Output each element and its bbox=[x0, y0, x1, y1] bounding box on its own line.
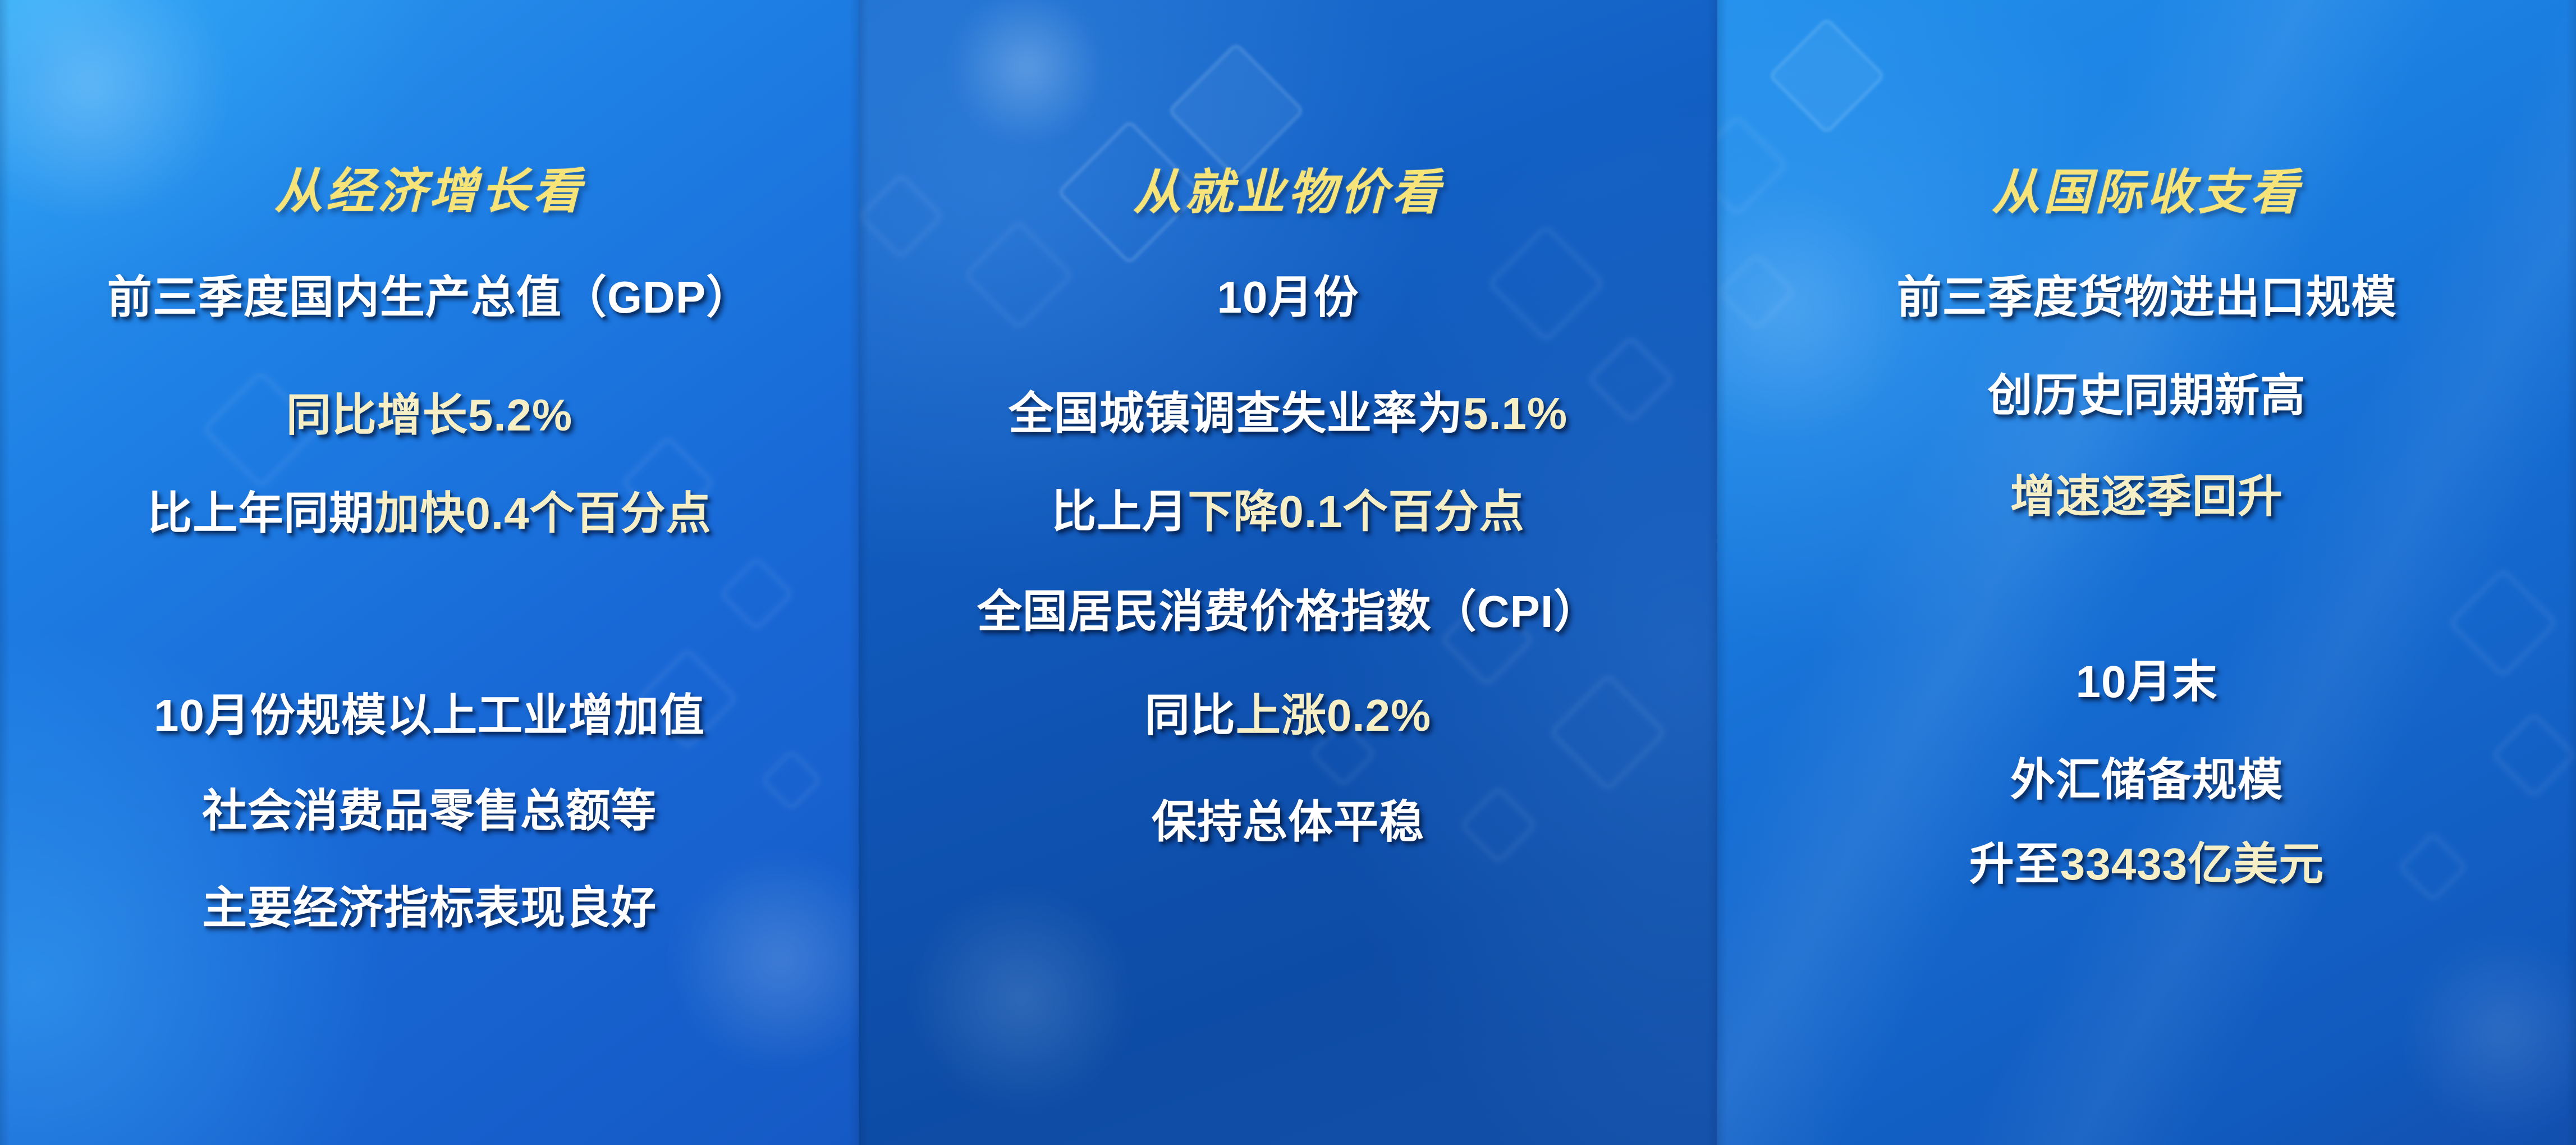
panel-two-content: 从就业物价看 10月份 全国城镇调查失业率为5.1% 比上月下降0.1个百分点 … bbox=[859, 0, 1717, 1145]
panel-two-title: 从就业物价看 bbox=[1133, 168, 1443, 217]
text-segment-highlight: 增速逐季回升 bbox=[2010, 471, 2283, 521]
panel-two-line-1: 10月份 bbox=[1217, 275, 1359, 320]
panel-two-line-3: 比上月下降0.1个百分点 bbox=[1051, 489, 1524, 534]
panel-three-line-5: 外汇储备规模 bbox=[2010, 758, 2283, 803]
text-segment: 外汇储备规模 bbox=[2010, 755, 2283, 805]
panel-balance-of-payments: 从国际收支看 前三季度货物进出口规模 创历史同期新高 增速逐季回升 10月末 外… bbox=[1717, 0, 2576, 1145]
panel-three-line-4: 10月末 bbox=[2076, 659, 2218, 704]
text-segment: 全国居民消费价格指数（CPI） bbox=[977, 587, 1599, 636]
panel-one-line-2: 同比增长5.2% bbox=[286, 393, 572, 438]
text-segment-highlight: 5.1% bbox=[1463, 388, 1567, 438]
text-segment: 比上年同期 bbox=[147, 488, 374, 538]
panel-two-line-6: 保持总体平稳 bbox=[1152, 800, 1424, 845]
panel-two-line-4: 全国居民消费价格指数（CPI） bbox=[977, 589, 1599, 634]
panel-employment-prices: 从就业物价看 10月份 全国城镇调查失业率为5.1% 比上月下降0.1个百分点 … bbox=[859, 0, 1717, 1145]
panel-three-line-1: 前三季度货物进出口规模 bbox=[1897, 275, 2397, 320]
text-segment: 主要经济指标表现良好 bbox=[202, 883, 657, 933]
panel-one-title: 从经济增长看 bbox=[274, 167, 584, 216]
text-segment: 社会消费品零售总额等 bbox=[202, 786, 657, 836]
panel-two-line-5: 同比上涨0.2% bbox=[1145, 693, 1431, 738]
infographic-stage: 从经济增长看 前三季度国内生产总值（GDP） 同比增长5.2% 比上年同期加快0… bbox=[0, 0, 2576, 1145]
text-segment-highlight: 同比增长5.2% bbox=[286, 390, 572, 440]
text-segment-highlight: 上涨0.2% bbox=[1236, 690, 1431, 740]
text-segment-highlight: 下降0.1个百分点 bbox=[1188, 487, 1524, 537]
panel-one-content: 从经济增长看 前三季度国内生产总值（GDP） 同比增长5.2% 比上年同期加快0… bbox=[0, 0, 859, 1145]
panel-three-content: 从国际收支看 前三季度货物进出口规模 创历史同期新高 增速逐季回升 10月末 外… bbox=[1717, 0, 2576, 1145]
text-segment: 10月份规模以上工业增加值 bbox=[154, 690, 705, 740]
text-segment: 保持总体平稳 bbox=[1152, 797, 1424, 847]
panel-three-line-3: 增速逐季回升 bbox=[2010, 474, 2283, 519]
text-segment: 前三季度国内生产总值（GDP） bbox=[107, 272, 751, 322]
panel-three-line-6: 升至33433亿美元 bbox=[1969, 842, 2324, 887]
panel-one-line-5: 社会消费品零售总额等 bbox=[202, 789, 657, 833]
panel-three-title: 从国际收支看 bbox=[1992, 168, 2302, 217]
panel-one-line-3: 比上年同期加快0.4个百分点 bbox=[147, 491, 711, 536]
panel-one-line-1: 前三季度国内生产总值（GDP） bbox=[107, 275, 751, 320]
text-segment-highlight: 33433亿美元 bbox=[2060, 839, 2324, 889]
text-segment: 升至 bbox=[1969, 839, 2060, 889]
panel-two-line-2: 全国城镇调查失业率为5.1% bbox=[1009, 391, 1567, 436]
panel-economic-growth: 从经济增长看 前三季度国内生产总值（GDP） 同比增长5.2% 比上年同期加快0… bbox=[0, 0, 859, 1145]
text-segment: 创历史同期新高 bbox=[1988, 370, 2306, 420]
text-segment: 全国城镇调查失业率为 bbox=[1009, 388, 1463, 438]
text-segment: 比上月 bbox=[1051, 487, 1188, 537]
text-segment: 10月末 bbox=[2076, 657, 2218, 707]
panel-one-line-6: 主要经济指标表现良好 bbox=[202, 886, 657, 931]
panel-three-line-2: 创历史同期新高 bbox=[1988, 373, 2306, 418]
text-segment-highlight: 加快0.4个百分点 bbox=[374, 488, 711, 538]
text-segment: 同比 bbox=[1145, 690, 1236, 740]
text-segment: 10月份 bbox=[1217, 272, 1359, 322]
panel-one-line-4: 10月份规模以上工业增加值 bbox=[154, 693, 705, 738]
text-segment: 前三季度货物进出口规模 bbox=[1897, 272, 2397, 322]
